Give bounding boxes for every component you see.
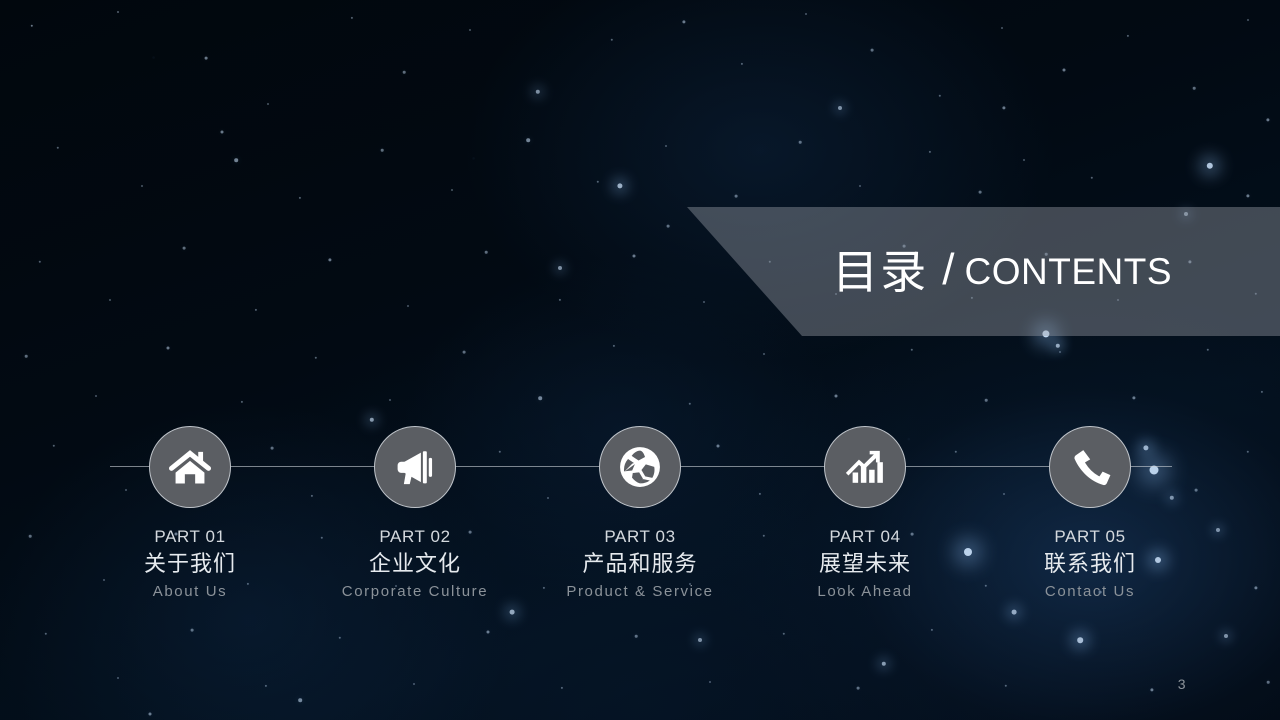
node-title-english: Look Ahead xyxy=(755,582,975,602)
globe-network-icon xyxy=(618,445,662,489)
node-part-label: PART 01 xyxy=(80,526,300,547)
node-title-english: About Us xyxy=(80,582,300,602)
megaphone-icon xyxy=(394,446,436,488)
node-icon-circle[interactable] xyxy=(1049,426,1131,508)
page-number: 3 xyxy=(1178,676,1186,692)
node-part-label: PART 03 xyxy=(530,526,750,547)
node-labels: PART 04展望未来Look Ahead xyxy=(755,526,975,602)
node-icon-circle[interactable] xyxy=(599,426,681,508)
timeline-node-4[interactable]: PART 04展望未来Look Ahead xyxy=(755,426,975,602)
node-part-label: PART 04 xyxy=(755,526,975,547)
node-title-chinese: 企业文化 xyxy=(305,549,525,579)
growth-chart-icon xyxy=(843,445,887,489)
phone-icon xyxy=(1069,446,1111,488)
node-labels: PART 02企业文化Corporate Culture xyxy=(305,526,525,602)
slide-root: 目录 / CONTENTS PART 01关于我们About Us PART 0… xyxy=(0,0,1280,720)
node-title-english: Product & Service xyxy=(530,582,750,602)
node-icon-circle[interactable] xyxy=(824,426,906,508)
node-title-chinese: 产品和服务 xyxy=(530,549,750,579)
timeline-node-1[interactable]: PART 01关于我们About Us xyxy=(80,426,300,602)
node-title-chinese: 联系我们 xyxy=(980,549,1200,579)
node-labels: PART 03产品和服务Product & Service xyxy=(530,526,750,602)
node-title-english: Corporate Culture xyxy=(305,582,525,602)
timeline-node-2[interactable]: PART 02企业文化Corporate Culture xyxy=(305,426,525,602)
node-part-label: PART 05 xyxy=(980,526,1200,547)
node-labels: PART 01关于我们About Us xyxy=(80,526,300,602)
timeline-node-3[interactable]: PART 03产品和服务Product & Service xyxy=(530,426,750,602)
node-title-chinese: 关于我们 xyxy=(80,549,300,579)
node-labels: PART 05联系我们Contact Us xyxy=(980,526,1200,602)
home-icon xyxy=(168,445,212,489)
node-icon-circle[interactable] xyxy=(374,426,456,508)
timeline-nodes: PART 01关于我们About Us PART 02企业文化Corporate… xyxy=(0,0,1280,720)
node-part-label: PART 02 xyxy=(305,526,525,547)
node-title-english: Contact Us xyxy=(980,582,1200,602)
node-icon-circle[interactable] xyxy=(149,426,231,508)
timeline-node-5[interactable]: PART 05联系我们Contact Us xyxy=(980,426,1200,602)
node-title-chinese: 展望未来 xyxy=(755,549,975,579)
